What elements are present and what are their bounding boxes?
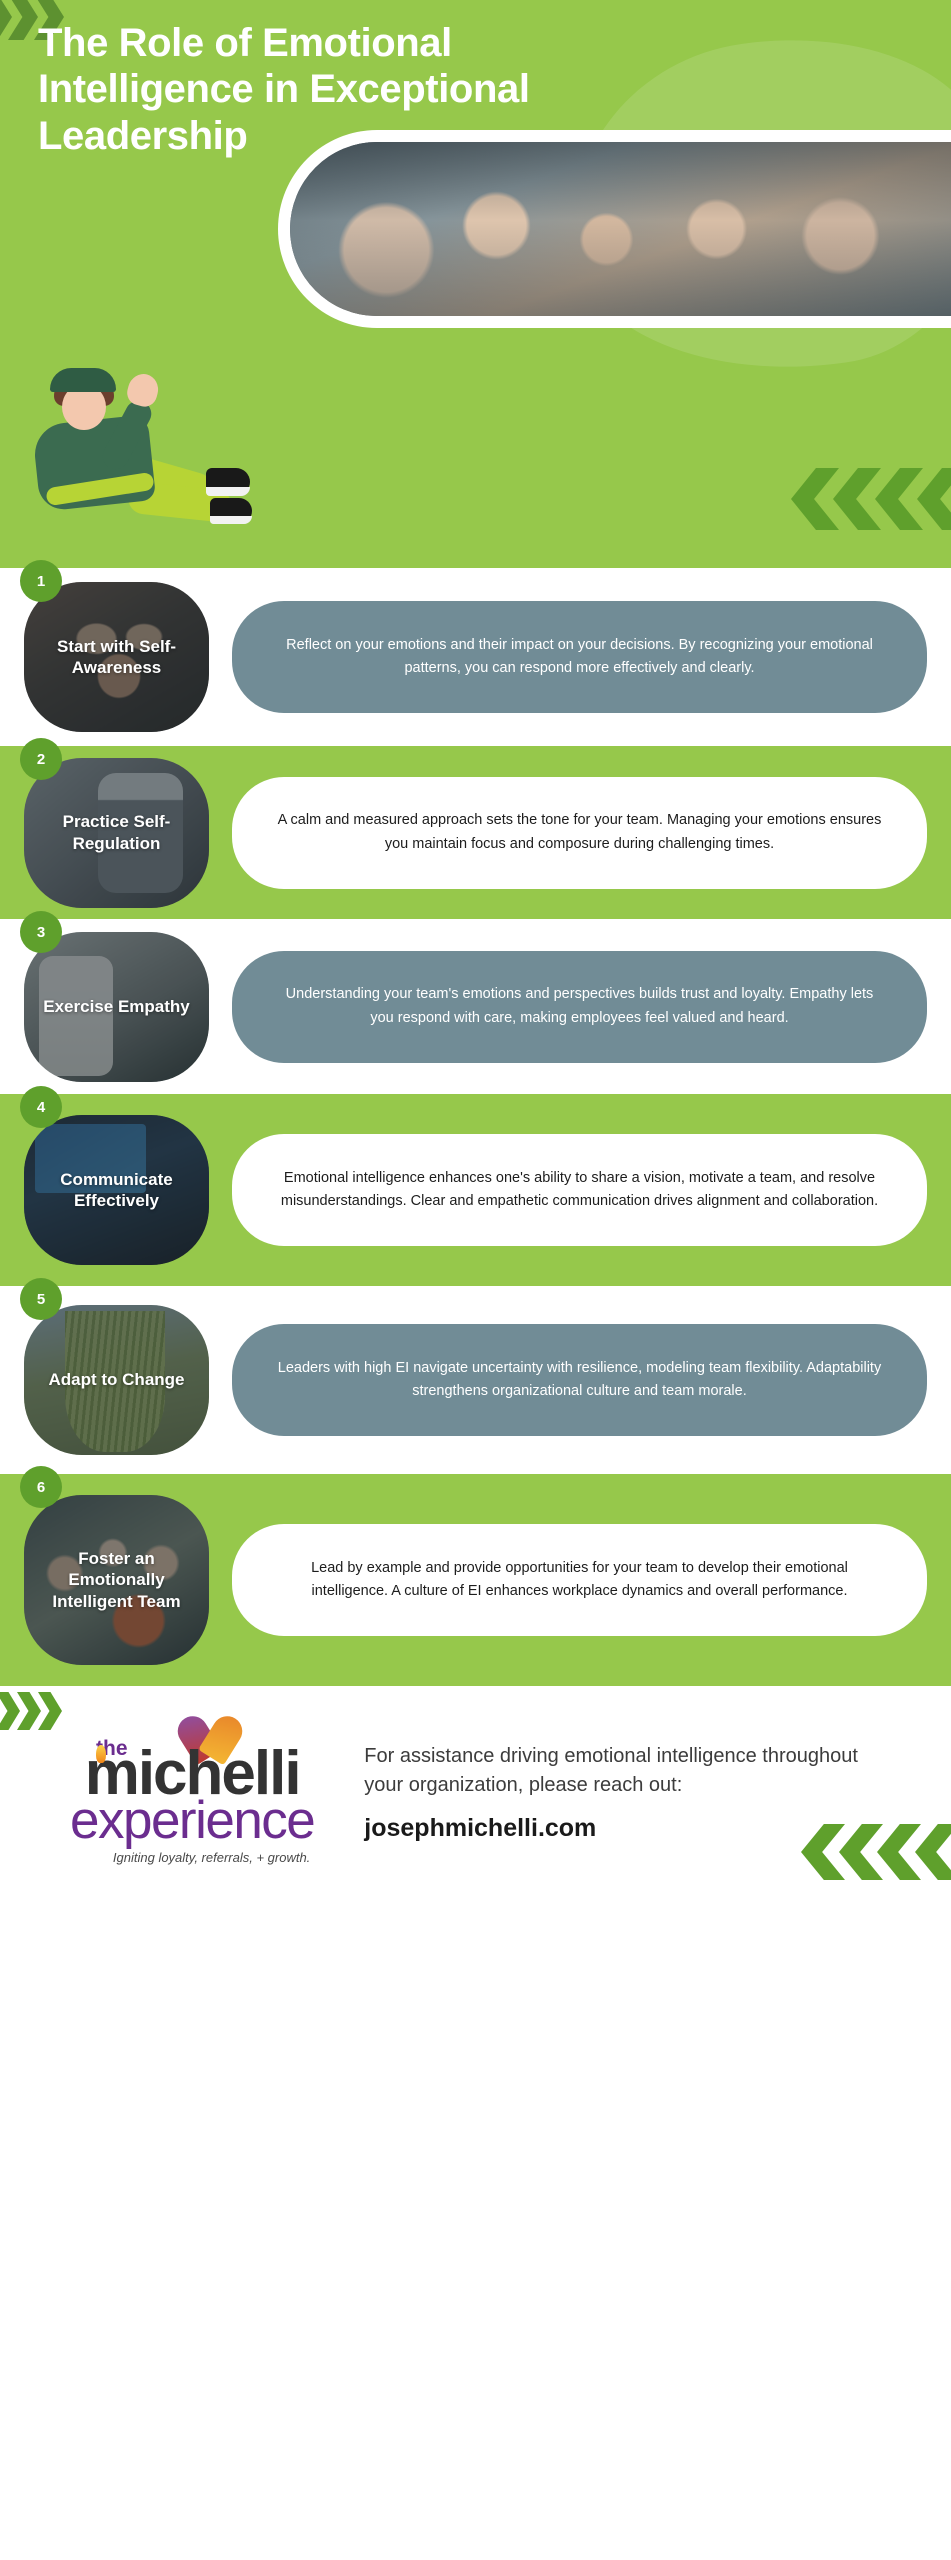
- step-title-1: Start with Self-Awareness: [24, 636, 209, 678]
- step-section-3: Exercise Empathy 3 Understanding your te…: [0, 919, 951, 1094]
- hero-photo-frame: [278, 130, 951, 328]
- chevron-left-decoration-hero: [791, 468, 951, 530]
- step-title-2: Practice Self-Regulation: [24, 811, 209, 853]
- step-card-3: Exercise Empathy: [24, 932, 209, 1082]
- step-number-6: 6: [20, 1466, 62, 1508]
- logo-michelli-text: michelli: [70, 1747, 314, 1802]
- step-row: Communicate Effectively 4 Emotional inte…: [0, 1094, 951, 1286]
- step-row: Foster an Emotionally Intelligent Team 6…: [0, 1474, 951, 1686]
- step-row: Practice Self-Regulation 2 A calm and me…: [0, 746, 951, 919]
- step-body-4: Emotional intelligence enhances one's ab…: [232, 1134, 927, 1246]
- step-number-1: 1: [20, 560, 62, 602]
- step-body-1: Reflect on your emotions and their impac…: [232, 601, 927, 713]
- chevron-right-decoration-footer: [0, 1692, 66, 1730]
- step-card-1: Start with Self-Awareness: [24, 582, 209, 732]
- step-title-6: Foster an Emotionally Intelligent Team: [24, 1548, 209, 1611]
- step-number-3: 3: [20, 911, 62, 953]
- step-number-5: 5: [20, 1278, 62, 1320]
- chevron-left-decoration-footer: [801, 1824, 951, 1880]
- hero-photo: [290, 142, 951, 316]
- step-number-2: 2: [20, 738, 62, 780]
- step-card-5: Adapt to Change: [24, 1305, 209, 1455]
- footer-cta-text: For assistance driving emotional intelli…: [364, 1742, 901, 1800]
- step-card-4: Communicate Effectively: [24, 1115, 209, 1265]
- michelli-experience-logo[interactable]: the michelli experience Igniting loyalty…: [70, 1719, 314, 1865]
- step-row: Exercise Empathy 3 Understanding your te…: [0, 919, 951, 1094]
- step-title-5: Adapt to Change: [39, 1369, 195, 1390]
- step-row: Start with Self-Awareness 1 Reflect on y…: [0, 568, 951, 746]
- step-row: Adapt to Change 5 Leaders with high EI n…: [0, 1286, 951, 1474]
- step-body-5: Leaders with high EI navigate uncertaint…: [232, 1324, 927, 1436]
- logo-tagline: Igniting loyalty, referrals, + growth.: [70, 1850, 314, 1865]
- step-card-2: Practice Self-Regulation: [24, 758, 209, 908]
- step-body-2: A calm and measured approach sets the to…: [232, 777, 927, 889]
- step-body-6: Lead by example and provide opportunitie…: [232, 1524, 927, 1636]
- step-section-1: Start with Self-Awareness 1 Reflect on y…: [0, 568, 951, 746]
- step-title-4: Communicate Effectively: [24, 1169, 209, 1211]
- step-number-4: 4: [20, 1086, 62, 1128]
- step-section-6: Foster an Emotionally Intelligent Team 6…: [0, 1474, 951, 1686]
- hero-illustration: [10, 368, 260, 568]
- step-section-5: Adapt to Change 5 Leaders with high EI n…: [0, 1286, 951, 1474]
- step-card-6: Foster an Emotionally Intelligent Team: [24, 1495, 209, 1665]
- step-section-4: Communicate Effectively 4 Emotional inte…: [0, 1094, 951, 1286]
- footer: the michelli experience Igniting loyalty…: [0, 1686, 951, 1882]
- candle-flame-icon: [96, 1745, 106, 1763]
- step-body-3: Understanding your team's emotions and p…: [232, 951, 927, 1063]
- hero-banner: The Role of Emotional Intelligence in Ex…: [0, 0, 951, 568]
- step-title-3: Exercise Empathy: [33, 996, 199, 1017]
- step-section-2: Practice Self-Regulation 2 A calm and me…: [0, 746, 951, 919]
